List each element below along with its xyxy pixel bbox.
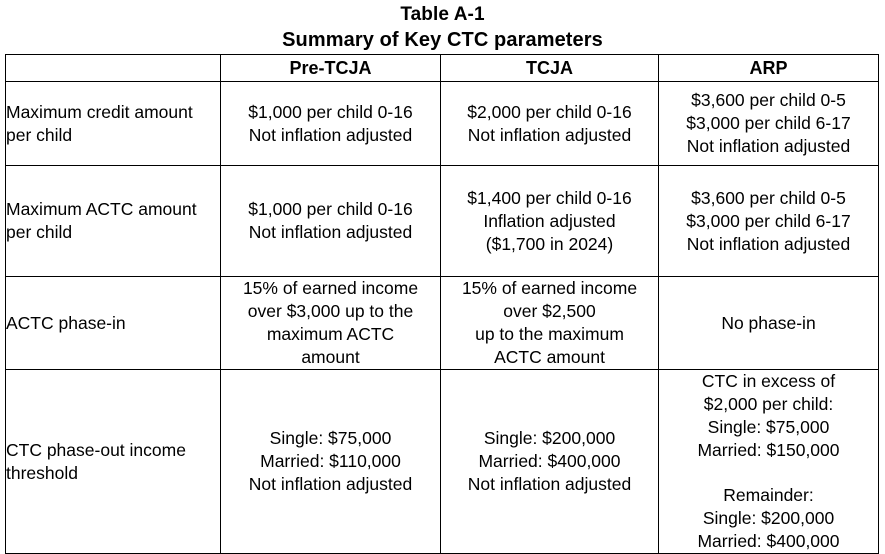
cell-text-line: Married: $110,000 <box>221 450 440 473</box>
cell-lines: Single: $200,000Married: $400,000Not inf… <box>441 427 658 496</box>
cell-text-line: 15% of earned income <box>441 277 658 300</box>
table-number: Table A-1 <box>0 3 885 27</box>
cell-text-line: over $3,000 up to the <box>221 300 440 323</box>
cell-text-line: Married: $150,000 <box>659 439 878 462</box>
cell-lines: $1,000 per child 0-16Not inflation adjus… <box>221 198 440 244</box>
cell-lines: $1,400 per child 0-16Inflation adjusted(… <box>441 187 658 256</box>
cell-tcja-ctc-phase-out-threshold: Single: $200,000Married: $400,000Not inf… <box>441 370 659 554</box>
column-header-blank <box>6 55 221 82</box>
table-caption: Summary of Key CTC parameters <box>0 27 885 53</box>
ctc-parameters-table: Pre-TCJA TCJA ARP Maximum credit amount … <box>5 54 879 554</box>
table-page: Table A-1 Summary of Key CTC parameters … <box>0 0 885 544</box>
table-row: Maximum ACTC amount per child $1,000 per… <box>6 166 879 277</box>
cell-lines: 15% of earned incomeover $2,500up to the… <box>441 277 658 369</box>
cell-text-line: $2,000 per child 0-16 <box>441 101 658 124</box>
cell-text-line: up to the maximum <box>441 323 658 346</box>
cell-arp-ctc-phase-out-threshold: CTC in excess of$2,000 per child:Single:… <box>659 370 879 554</box>
cell-text-line: Single: $200,000 <box>441 427 658 450</box>
cell-text-line: Not inflation adjusted <box>659 233 878 256</box>
cell-text-line: maximum ACTC <box>221 323 440 346</box>
table-row: Maximum credit amount per child $1,000 p… <box>6 82 879 166</box>
cell-text-line <box>659 462 878 484</box>
table-row: ACTC phase-in 15% of earned incomeover $… <box>6 277 879 370</box>
cell-text-line: $1,400 per child 0-16 <box>441 187 658 210</box>
table-header-row: Pre-TCJA TCJA ARP <box>6 55 879 82</box>
cell-text-line: Single: $75,000 <box>221 427 440 450</box>
cell-arp-maximum-credit-amount: $3,600 per child 0-5$3,000 per child 6-1… <box>659 82 879 166</box>
cell-text-line: ACTC amount <box>441 346 658 369</box>
cell-text-line: $1,000 per child 0-16 <box>221 101 440 124</box>
cell-text-line: Not inflation adjusted <box>221 221 440 244</box>
cell-text-line: Single: $75,000 <box>659 416 878 439</box>
cell-text-line: Married: $400,000 <box>659 530 878 553</box>
cell-lines: $1,000 per child 0-16Not inflation adjus… <box>221 101 440 147</box>
cell-text-line: Not inflation adjusted <box>221 473 440 496</box>
table-row: CTC phase-out income threshold Single: $… <box>6 370 879 554</box>
cell-lines: Single: $75,000Married: $110,000Not infl… <box>221 427 440 496</box>
row-label-maximum-actc-amount: Maximum ACTC amount per child <box>6 166 221 277</box>
cell-text-line: CTC in excess of <box>659 370 878 393</box>
cell-text-line: $3,000 per child 6-17 <box>659 112 878 135</box>
row-label-maximum-credit-amount: Maximum credit amount per child <box>6 82 221 166</box>
cell-text-line: Single: $200,000 <box>659 507 878 530</box>
cell-pre-tcja-maximum-credit-amount: $1,000 per child 0-16Not inflation adjus… <box>221 82 441 166</box>
cell-lines: No phase-in <box>659 312 878 335</box>
column-header-tcja: TCJA <box>441 55 659 82</box>
cell-lines: $3,600 per child 0-5$3,000 per child 6-1… <box>659 187 878 256</box>
cell-text-line: Not inflation adjusted <box>659 135 878 158</box>
cell-tcja-maximum-credit-amount: $2,000 per child 0-16Not inflation adjus… <box>441 82 659 166</box>
cell-text-line: Not inflation adjusted <box>441 124 658 147</box>
table-title-block: Table A-1 Summary of Key CTC parameters <box>0 0 885 53</box>
table-header: Pre-TCJA TCJA ARP <box>6 55 879 82</box>
cell-text-line: $3,600 per child 0-5 <box>659 187 878 210</box>
row-label-ctc-phase-out-threshold: CTC phase-out income threshold <box>6 370 221 554</box>
cell-text-line: over $2,500 <box>441 300 658 323</box>
cell-arp-maximum-actc-amount: $3,600 per child 0-5$3,000 per child 6-1… <box>659 166 879 277</box>
cell-text-line: $2,000 per child: <box>659 393 878 416</box>
cell-pre-tcja-ctc-phase-out-threshold: Single: $75,000Married: $110,000Not infl… <box>221 370 441 554</box>
cell-lines: $3,600 per child 0-5$3,000 per child 6-1… <box>659 89 878 158</box>
cell-text-line: 15% of earned income <box>221 277 440 300</box>
cell-lines: $2,000 per child 0-16Not inflation adjus… <box>441 101 658 147</box>
cell-arp-actc-phase-in: No phase-in <box>659 277 879 370</box>
cell-text-line: Inflation adjusted <box>441 210 658 233</box>
cell-lines: CTC in excess of$2,000 per child:Single:… <box>659 370 878 553</box>
row-label-actc-phase-in: ACTC phase-in <box>6 277 221 370</box>
cell-text-line: Not inflation adjusted <box>221 124 440 147</box>
cell-tcja-maximum-actc-amount: $1,400 per child 0-16Inflation adjusted(… <box>441 166 659 277</box>
cell-text-line: No phase-in <box>659 312 878 335</box>
cell-text-line: $1,000 per child 0-16 <box>221 198 440 221</box>
column-header-pre-tcja: Pre-TCJA <box>221 55 441 82</box>
cell-pre-tcja-maximum-actc-amount: $1,000 per child 0-16Not inflation adjus… <box>221 166 441 277</box>
cell-text-line: $3,600 per child 0-5 <box>659 89 878 112</box>
table-body: Maximum credit amount per child $1,000 p… <box>6 82 879 554</box>
cell-text-line: Not inflation adjusted <box>441 473 658 496</box>
cell-text-line: Married: $400,000 <box>441 450 658 473</box>
cell-text-line: ($1,700 in 2024) <box>441 233 658 256</box>
cell-pre-tcja-actc-phase-in: 15% of earned incomeover $3,000 up to th… <box>221 277 441 370</box>
column-header-arp: ARP <box>659 55 879 82</box>
cell-tcja-actc-phase-in: 15% of earned incomeover $2,500up to the… <box>441 277 659 370</box>
cell-lines: 15% of earned incomeover $3,000 up to th… <box>221 277 440 369</box>
cell-text-line: Remainder: <box>659 484 878 507</box>
cell-text-line: $3,000 per child 6-17 <box>659 210 878 233</box>
cell-text-line: amount <box>221 346 440 369</box>
